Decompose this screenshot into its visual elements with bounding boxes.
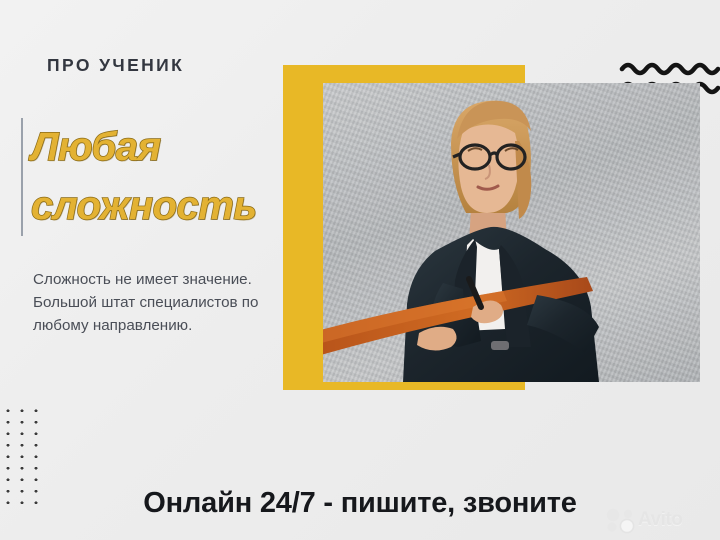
vertical-accent-rule [21,118,23,236]
eyebrow-label: ПРО УЧЕНИК [47,55,184,76]
avito-watermark: Avito [602,508,706,534]
teacher-illustration [323,83,700,382]
promo-poster: ПРО УЧЕНИК Любая сложность Сложность не … [0,0,720,540]
body-paragraph: Сложность не имеет значение. Большой шта… [33,268,261,337]
avito-brand-text: Avito [638,509,682,531]
teacher-photo [323,83,700,382]
